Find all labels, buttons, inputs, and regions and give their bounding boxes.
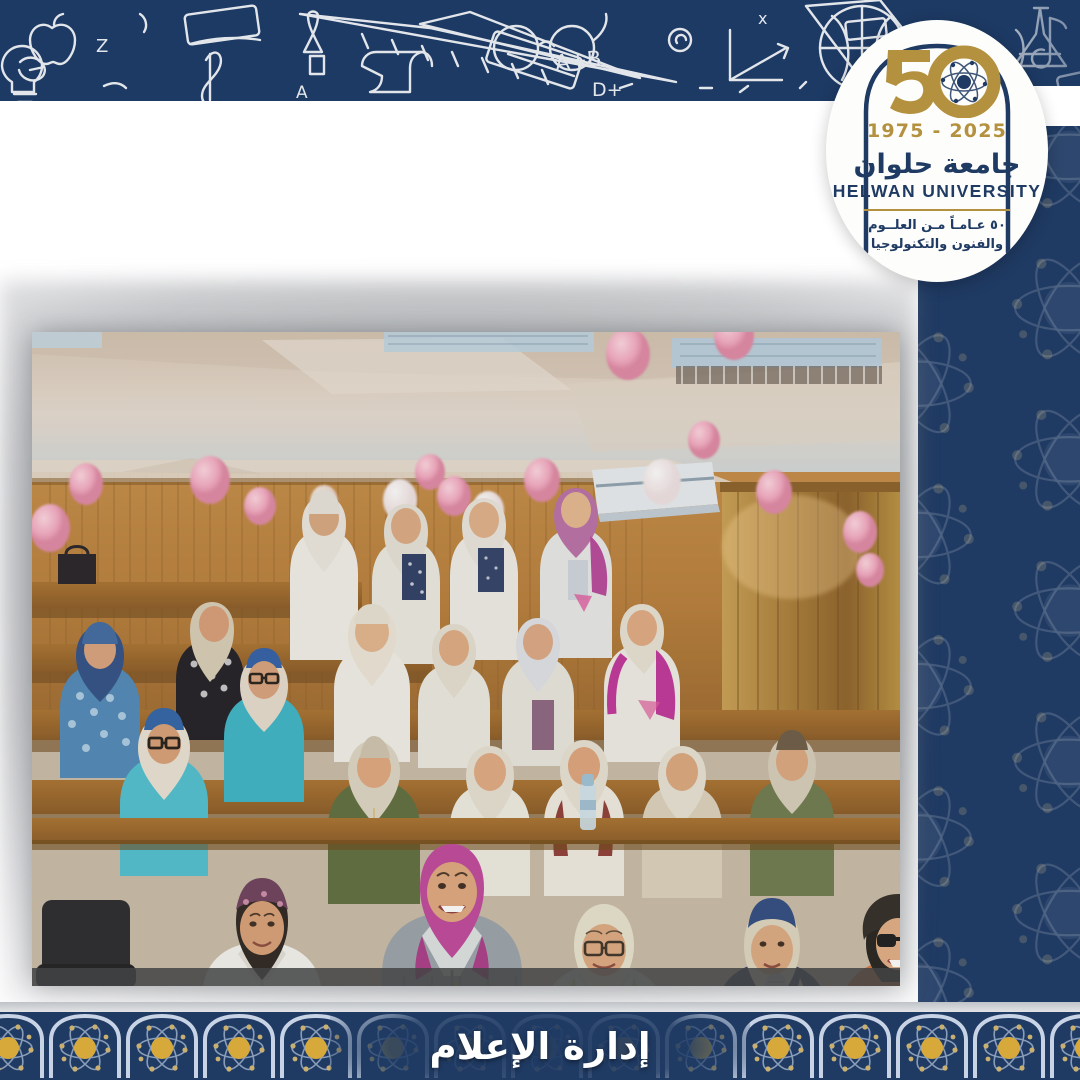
logo-tagline: ٥٠ عـامـاً مـن العلــوم والفنون والتكنول…	[837, 217, 1037, 255]
anniversary-number-50	[872, 42, 1002, 118]
media-administration-label: إدارة الإعلام	[0, 1012, 1080, 1080]
svg-text:Z: Z	[96, 36, 108, 57]
logo-tagline-line-2: والفنون والتكنولوجيا	[871, 237, 1003, 252]
poster-root: Z A	[0, 0, 1080, 1080]
svg-text:A+B: A+B	[554, 46, 603, 75]
lecture-hall-photo-illustration	[32, 332, 900, 986]
svg-text:x: x	[758, 9, 767, 28]
university-name-arabic: جامعة حلوان	[853, 151, 1020, 178]
logo-tagline-line-1: ٥٠ عـامـاً مـن العلــوم	[868, 218, 1006, 233]
logo-divider	[864, 209, 1010, 211]
svg-text:D+: D+	[592, 79, 623, 101]
anniversary-years: 1975 - 2025	[867, 120, 1007, 142]
fifty-with-atom-icon	[872, 42, 1002, 118]
svg-text:A: A	[296, 83, 308, 101]
group-photo-women-lecture-hall	[32, 332, 900, 986]
helwan-university-50th-anniversary-logo[interactable]: 1975 - 2025 جامعة حلوان HELWAN UNIVERSIT…	[826, 20, 1048, 282]
university-name-english: HELWAN UNIVERSITY	[833, 181, 1042, 202]
